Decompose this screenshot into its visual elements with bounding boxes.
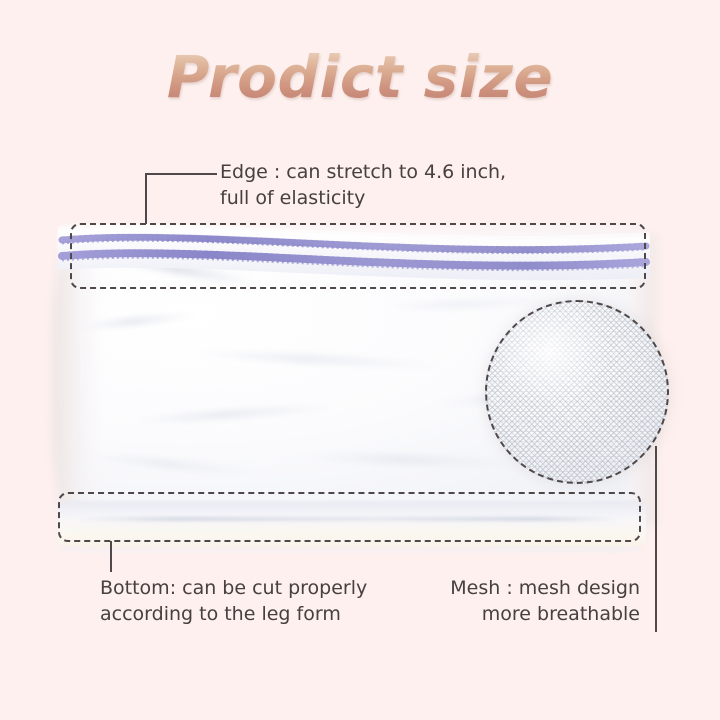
callout-label-mesh: Mesh : mesh design more breathable [400, 576, 640, 627]
callout-label-bottom: Bottom: can be cut properly according to… [100, 576, 430, 627]
leader-line-edge-vertical [145, 173, 147, 224]
mesh-highlight [487, 302, 667, 482]
leader-line-bottom [110, 541, 112, 572]
callout-label-edge: Edge : can stretch to 4.6 inch, full of … [220, 160, 550, 211]
leader-line-edge-horizontal [145, 173, 217, 175]
callout-box-edge [70, 223, 646, 289]
page-title: Prodict size [0, 48, 720, 106]
callout-box-bottom [58, 492, 641, 542]
leader-line-mesh [655, 446, 657, 632]
mesh-magnifier-circle [485, 300, 669, 484]
infographic-page: Prodict size [0, 0, 720, 720]
